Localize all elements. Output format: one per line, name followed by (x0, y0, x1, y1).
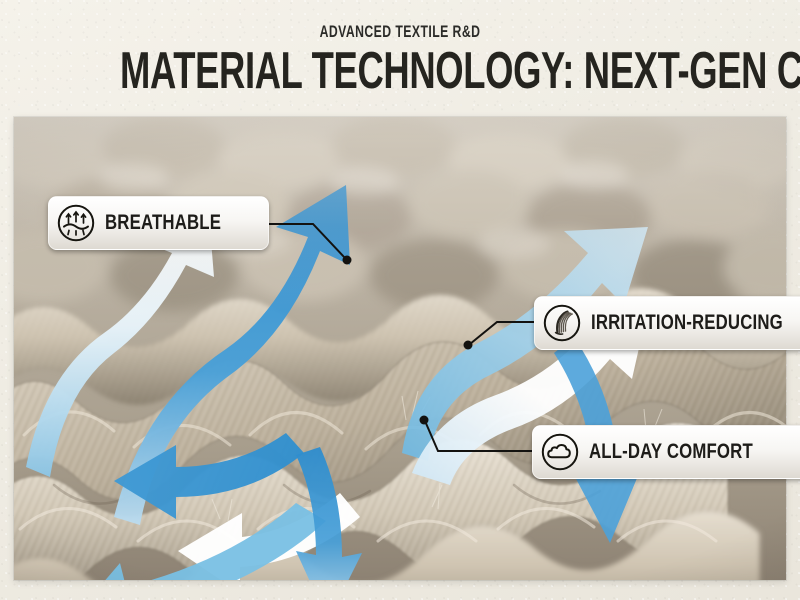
callout-all-day-comfort[interactable]: ALL-DAY COMFORT (532, 425, 800, 479)
callout-label: IRRITATION-REDUCING (591, 311, 783, 335)
cloud-icon (540, 432, 580, 472)
feather-fiber-icon (542, 303, 582, 343)
callout-label: ALL-DAY COMFORT (589, 440, 753, 464)
callout-breathable[interactable]: BREATHABLE (48, 196, 269, 250)
kicker-text: ADVANCED TEXTILE R&D (112, 22, 688, 42)
header: ADVANCED TEXTILE R&D MATERIAL TECHNOLOGY… (0, 0, 800, 96)
callout-irritation-reducing[interactable]: IRRITATION-REDUCING (534, 296, 800, 350)
page-title: MATERIAL TECHNOLOGY: NEXT-GEN COMFORT (120, 48, 680, 96)
airflow-arrows-icon (56, 203, 96, 243)
callout-label: BREATHABLE (105, 211, 221, 235)
